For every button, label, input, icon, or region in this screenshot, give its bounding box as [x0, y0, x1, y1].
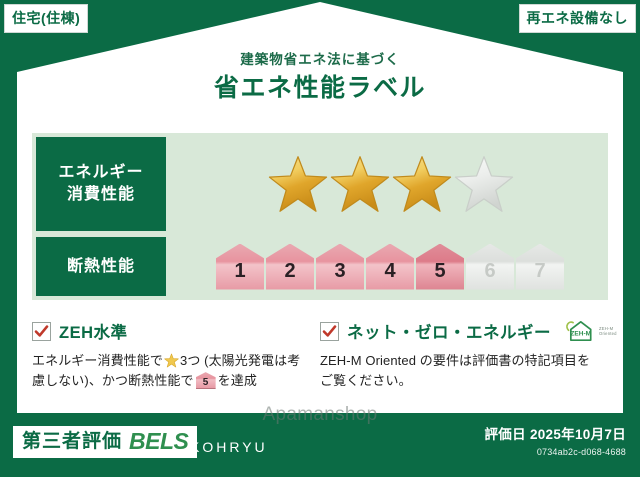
- zeh-standard-note: ZEH水準 エネルギー消費性能で3つ (太陽光発電は考慮しない)、かつ断熱性能で…: [32, 318, 320, 410]
- insulation-level-number: 6: [484, 261, 495, 290]
- zeh-m-logo-sublabel: ZEH-M Oriented: [599, 326, 617, 337]
- energy-performance-row: エネルギー 消費性能: [32, 137, 608, 231]
- title-subtitle: 建築物省エネ法に基づく: [0, 52, 640, 68]
- bels-logo-jp-text: 第三者評価: [22, 432, 122, 451]
- insulation-level-number: 5: [434, 261, 445, 290]
- net-zero-energy-checkbox[interactable]: [320, 322, 339, 341]
- insulation-level-badge: 3: [316, 244, 364, 290]
- evaluation-info: 評価日 2025年10月7日 0734ab2c-d068-4688: [484, 427, 626, 457]
- insulation-level-number: 4: [384, 261, 395, 290]
- zeh-m-sub-line2: Oriented: [599, 331, 617, 336]
- evaluation-date-label: 評価日: [484, 427, 525, 442]
- organization-name: KOHRYU: [190, 439, 268, 455]
- net-zero-energy-header: ネット・ゼロ・エネルギー ZEH-M ZEH-M Oriented: [320, 318, 598, 344]
- insulation-label-text: 断熱性能: [67, 256, 135, 278]
- insulation-level-badge: 7: [516, 244, 564, 290]
- check-icon: [322, 324, 337, 339]
- energy-performance-label-box: エネルギー 消費性能: [36, 137, 166, 231]
- insulation-performance-label-box: 断熱性能: [36, 237, 166, 296]
- energy-label-line2: 消費性能: [67, 184, 135, 206]
- zeh-standard-title: ZEH水準: [59, 319, 128, 343]
- energy-performance-label: 住宅(住棟) 再エネ設備なし 建築物省エネ法に基づく 省エネ性能ラベル エネルギ…: [0, 0, 640, 477]
- inline-insulation-badge: 5: [196, 372, 216, 389]
- ratings-panel: エネルギー 消費性能: [32, 133, 608, 300]
- star-filled-icon: [329, 154, 391, 214]
- insulation-house-badges: 1 2 3 4 5: [210, 244, 564, 290]
- insulation-level-number: 7: [534, 261, 545, 290]
- insulation-level-number: 1: [234, 261, 245, 290]
- net-zero-energy-body: ZEH-M Oriented の要件は評価書の特記項目をご覧ください。: [320, 351, 598, 391]
- insulation-performance-row: 断熱性能 1 2 3: [32, 237, 608, 296]
- insulation-rating-scale: 1 2 3 4 5: [166, 237, 608, 296]
- star-filled-icon: [391, 154, 453, 214]
- zeh-body-post: を達成: [218, 373, 257, 388]
- page-title: 省エネ性能ラベル: [0, 75, 640, 103]
- label-title-block: 建築物省エネ法に基づく 省エネ性能ラベル: [0, 52, 640, 103]
- star-filled-icon: [267, 154, 329, 214]
- zeh-m-sub-line1: ZEH-M: [599, 326, 613, 331]
- inline-badge-number: 5: [196, 378, 216, 388]
- bels-logo: 第三者評価 BELS: [13, 426, 197, 458]
- evaluation-date: 評価日 2025年10月7日: [484, 427, 626, 443]
- net-zero-energy-title: ネット・ゼロ・エネルギー: [347, 319, 551, 343]
- insulation-level-badge: 1: [216, 244, 264, 290]
- renewable-energy-tag: 再エネ設備なし: [519, 4, 637, 33]
- net-zero-energy-note: ネット・ゼロ・エネルギー ZEH-M ZEH-M Oriented ZEH-M …: [320, 318, 608, 410]
- insulation-level-number: 2: [284, 261, 295, 290]
- check-icon: [34, 324, 49, 339]
- energy-label-line1: エネルギー: [58, 162, 143, 184]
- zeh-standard-header: ZEH水準: [32, 318, 310, 344]
- zeh-body-pre: エネルギー消費性能で: [32, 353, 163, 368]
- insulation-level-badge-current: 5: [416, 244, 464, 290]
- evaluation-date-value: 2025年10月7日: [530, 427, 626, 442]
- criteria-notes: ZEH水準 エネルギー消費性能で3つ (太陽光発電は考慮しない)、かつ断熱性能で…: [32, 318, 608, 410]
- energy-star-rating: [166, 137, 608, 231]
- insulation-level-badge: 2: [266, 244, 314, 290]
- evaluation-id: 0734ab2c-d068-4688: [484, 447, 626, 457]
- svg-text:ZEH-M: ZEH-M: [570, 331, 591, 338]
- zeh-standard-checkbox[interactable]: [32, 322, 51, 341]
- zeh-standard-body: エネルギー消費性能で3つ (太陽光発電は考慮しない)、かつ断熱性能で5を達成: [32, 351, 310, 391]
- insulation-level-badge: 4: [366, 244, 414, 290]
- building-type-tag: 住宅(住棟): [4, 4, 88, 33]
- insulation-level-number: 3: [334, 261, 345, 290]
- insulation-level-badge: 6: [466, 244, 514, 290]
- label-footer: 第三者評価 BELS KOHRYU 評価日 2025年10月7日 0734ab2…: [0, 413, 640, 477]
- bels-logo-en-text: BELS: [129, 430, 188, 453]
- inline-star-icon: [164, 353, 179, 368]
- zeh-m-house-icon: ZEH-M: [563, 318, 597, 344]
- star-empty-icon: [453, 154, 515, 214]
- zeh-m-logo: ZEH-M ZEH-M Oriented: [563, 318, 617, 344]
